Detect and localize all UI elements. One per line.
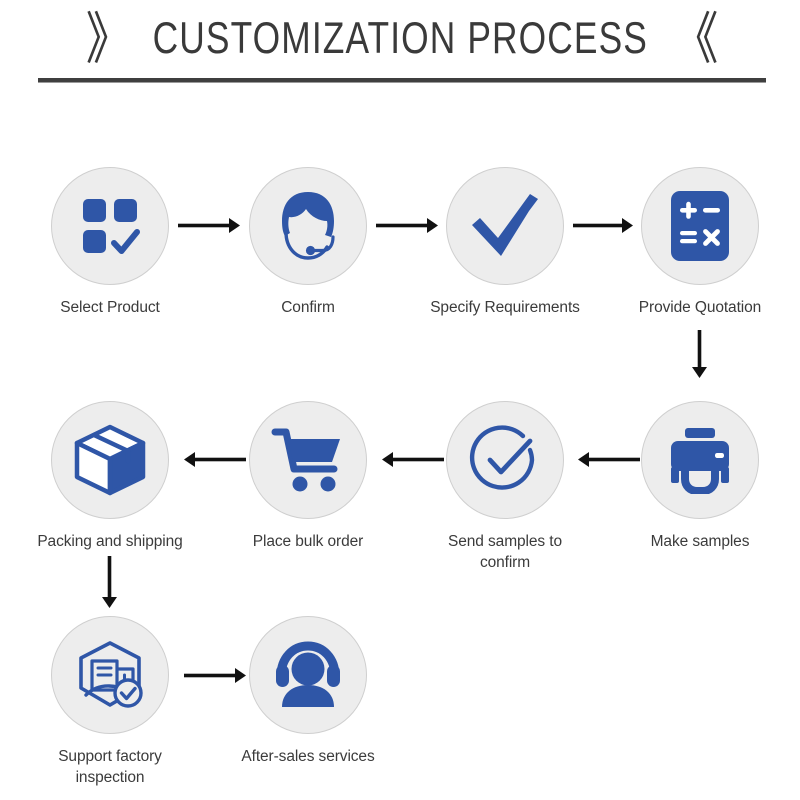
process-step-label: Support factory inspection xyxy=(30,746,190,788)
process-step-10[interactable]: After-sales services xyxy=(228,616,388,767)
checkmark-icon xyxy=(446,167,564,285)
arrow-down-icon xyxy=(102,556,117,608)
process-step-label: Send samples to confirm xyxy=(425,531,585,573)
process-step-label: Place bulk order xyxy=(228,531,388,552)
process-step-6[interactable]: Send samples to confirm xyxy=(425,401,585,573)
process-step-label: Make samples xyxy=(620,531,780,552)
process-step-label: Specify Requirements xyxy=(425,297,585,318)
process-step-label: Select Product xyxy=(30,297,190,318)
process-step-1[interactable]: Select Product xyxy=(30,167,190,318)
process-step-label: Confirm xyxy=(228,297,388,318)
headset-agent-icon xyxy=(249,167,367,285)
process-step-4[interactable]: Provide Quotation xyxy=(620,167,780,318)
factory-inspection-icon xyxy=(51,616,169,734)
shopping-cart-icon xyxy=(249,401,367,519)
grid-check-icon xyxy=(51,167,169,285)
circle-check-icon xyxy=(446,401,564,519)
printer-icon xyxy=(641,401,759,519)
calculator-icon xyxy=(641,167,759,285)
process-step-label: Provide Quotation xyxy=(620,297,780,318)
process-step-7[interactable]: Place bulk order xyxy=(228,401,388,552)
arrow-down-icon xyxy=(692,330,707,378)
customization-process-flow: Select Product Confirm Specify Requireme… xyxy=(0,0,800,800)
support-person-icon xyxy=(249,616,367,734)
process-step-3[interactable]: Specify Requirements xyxy=(425,167,585,318)
process-step-8[interactable]: Packing and shipping xyxy=(30,401,190,552)
process-step-label: After-sales services xyxy=(228,746,388,767)
package-box-icon xyxy=(51,401,169,519)
process-step-5[interactable]: Make samples xyxy=(620,401,780,552)
process-step-label: Packing and shipping xyxy=(30,531,190,552)
process-step-9[interactable]: Support factory inspection xyxy=(30,616,190,788)
process-step-2[interactable]: Confirm xyxy=(228,167,388,318)
